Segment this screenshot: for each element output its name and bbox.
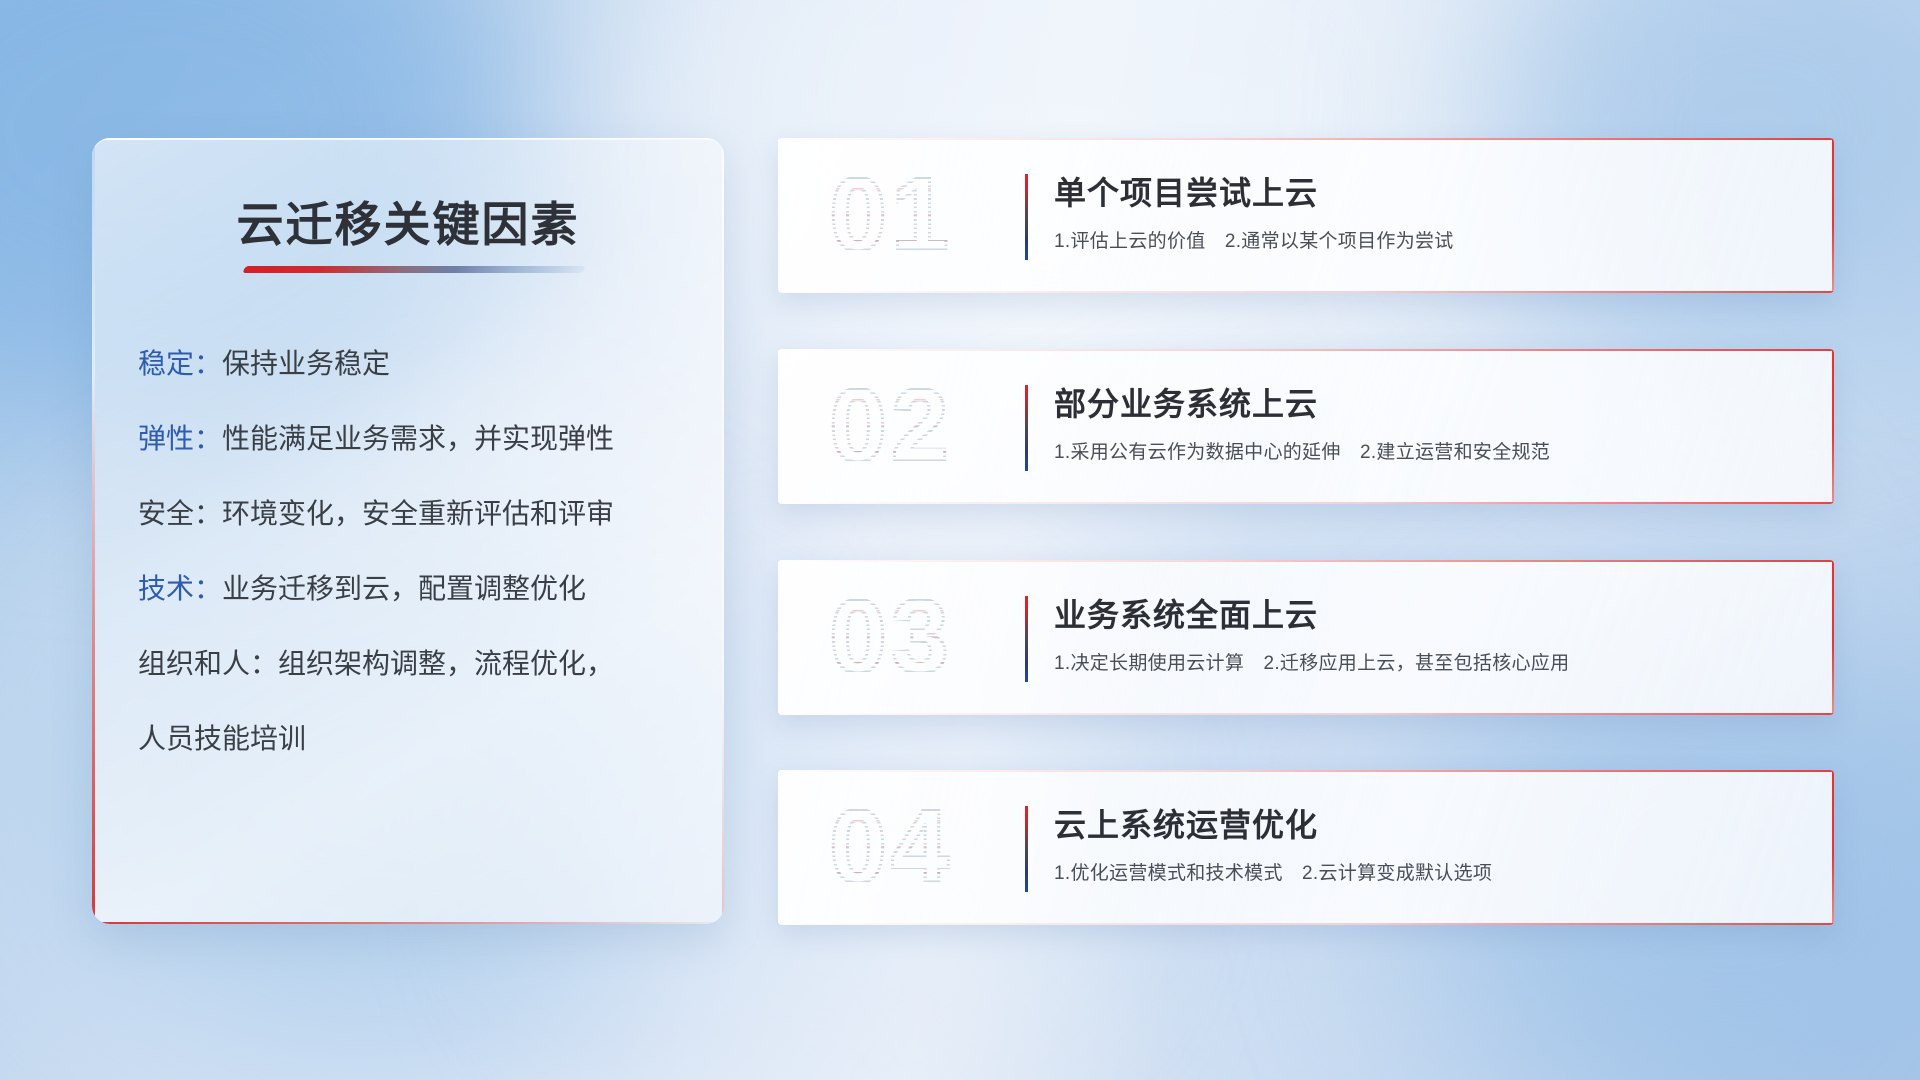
card-edge-bottom [778,291,1834,293]
card-edge-top [778,138,1834,140]
card-edge-right [1832,138,1835,293]
card-edge-bottom [778,713,1834,715]
factor-text: 保持业务稳定 [222,348,390,379]
card-edge-left [778,349,780,504]
step-title: 云上系统运营优化 [1054,800,1318,846]
step-number-watermark-tint: 04 [806,784,976,910]
list-item: 安全：环境变化，安全重新评估和评审 [138,500,694,528]
factor-text: 业务迁移到云，配置调整优化 [222,573,586,604]
step-card-01[interactable]: 01 01 单个项目尝试上云 1.评估上云的价值 2.通常以某个项目作为尝试 [778,138,1834,293]
list-item: 人员技能培训 [138,725,694,753]
card-edge-bottom [92,922,724,925]
step-number-watermark-tint: 03 [806,574,976,700]
step-card-04[interactable]: 04 04 云上系统运营优化 1.优化运营模式和技术模式 2.云计算变成默认选项 [778,770,1834,925]
step-number-watermark-tint: 02 [806,363,976,489]
card-edge-right [722,138,724,924]
step-number-watermark-tint: 01 [806,152,976,278]
card-edge-right [1832,560,1835,715]
step-card-02[interactable]: 02 02 部分业务系统上云 1.采用公有云作为数据中心的延伸 2.建立运营和安… [778,349,1834,504]
factor-label: 安全： [138,498,222,529]
factor-label: 弹性： [138,423,222,454]
step-card-03[interactable]: 03 03 业务系统全面上云 1.决定长期使用云计算 2.迁移应用上云，甚至包括… [778,560,1834,715]
step-title: 业务系统全面上云 [1054,590,1318,636]
card-edge-top [778,560,1834,562]
list-item: 弹性：性能满足业务需求，并实现弹性 [138,425,694,453]
card-edge-left [92,138,95,924]
factor-text: 性能满足业务需求，并实现弹性 [222,423,614,454]
page-title: 云迁移关键因素 [92,186,724,255]
step-title: 部分业务系统上云 [1054,379,1318,425]
factor-text: 环境变化，安全重新评估和评审 [222,498,614,529]
step-subtitle: 1.决定长期使用云计算 2.迁移应用上云，甚至包括核心应用 [1054,648,1569,675]
list-item: 稳定：保持业务稳定 [138,350,694,378]
card-edge-bottom [778,923,1834,925]
title-underline-rule [242,266,585,273]
accent-bar [1025,806,1028,892]
key-factors-card: 云迁移关键因素 稳定：保持业务稳定 弹性：性能满足业务需求，并实现弹性 安全：环… [92,138,724,924]
card-edge-left [778,138,780,293]
list-item: 组织和人：组织架构调整，流程优化， [138,650,694,678]
list-item: 技术：业务迁移到云，配置调整优化 [138,575,694,603]
card-edge-top [92,138,724,140]
factor-label: 组织和人： [138,648,278,679]
step-subtitle: 1.评估上云的价值 2.通常以某个项目作为尝试 [1054,226,1454,253]
card-edge-right [1832,349,1835,504]
card-edge-bottom [778,502,1834,504]
card-edge-left [778,770,780,925]
factor-label: 技术： [138,573,222,604]
slide-stage: 云迁移关键因素 稳定：保持业务稳定 弹性：性能满足业务需求，并实现弹性 安全：环… [0,0,1920,1080]
accent-bar [1025,385,1028,471]
card-edge-right [1832,770,1835,925]
card-edge-top [778,349,1834,351]
factor-text: 组织架构调整，流程优化， [278,648,614,679]
factor-label: 稳定： [138,348,222,379]
accent-bar [1025,596,1028,682]
card-edge-top [778,770,1834,772]
step-title: 单个项目尝试上云 [1054,168,1318,214]
accent-bar [1025,174,1028,260]
factor-text: 人员技能培训 [138,723,306,754]
card-edge-left [778,560,780,715]
factor-list: 稳定：保持业务稳定 弹性：性能满足业务需求，并实现弹性 安全：环境变化，安全重新… [138,350,694,753]
step-subtitle: 1.优化运营模式和技术模式 2.云计算变成默认选项 [1054,858,1492,885]
step-subtitle: 1.采用公有云作为数据中心的延伸 2.建立运营和安全规范 [1054,437,1550,464]
